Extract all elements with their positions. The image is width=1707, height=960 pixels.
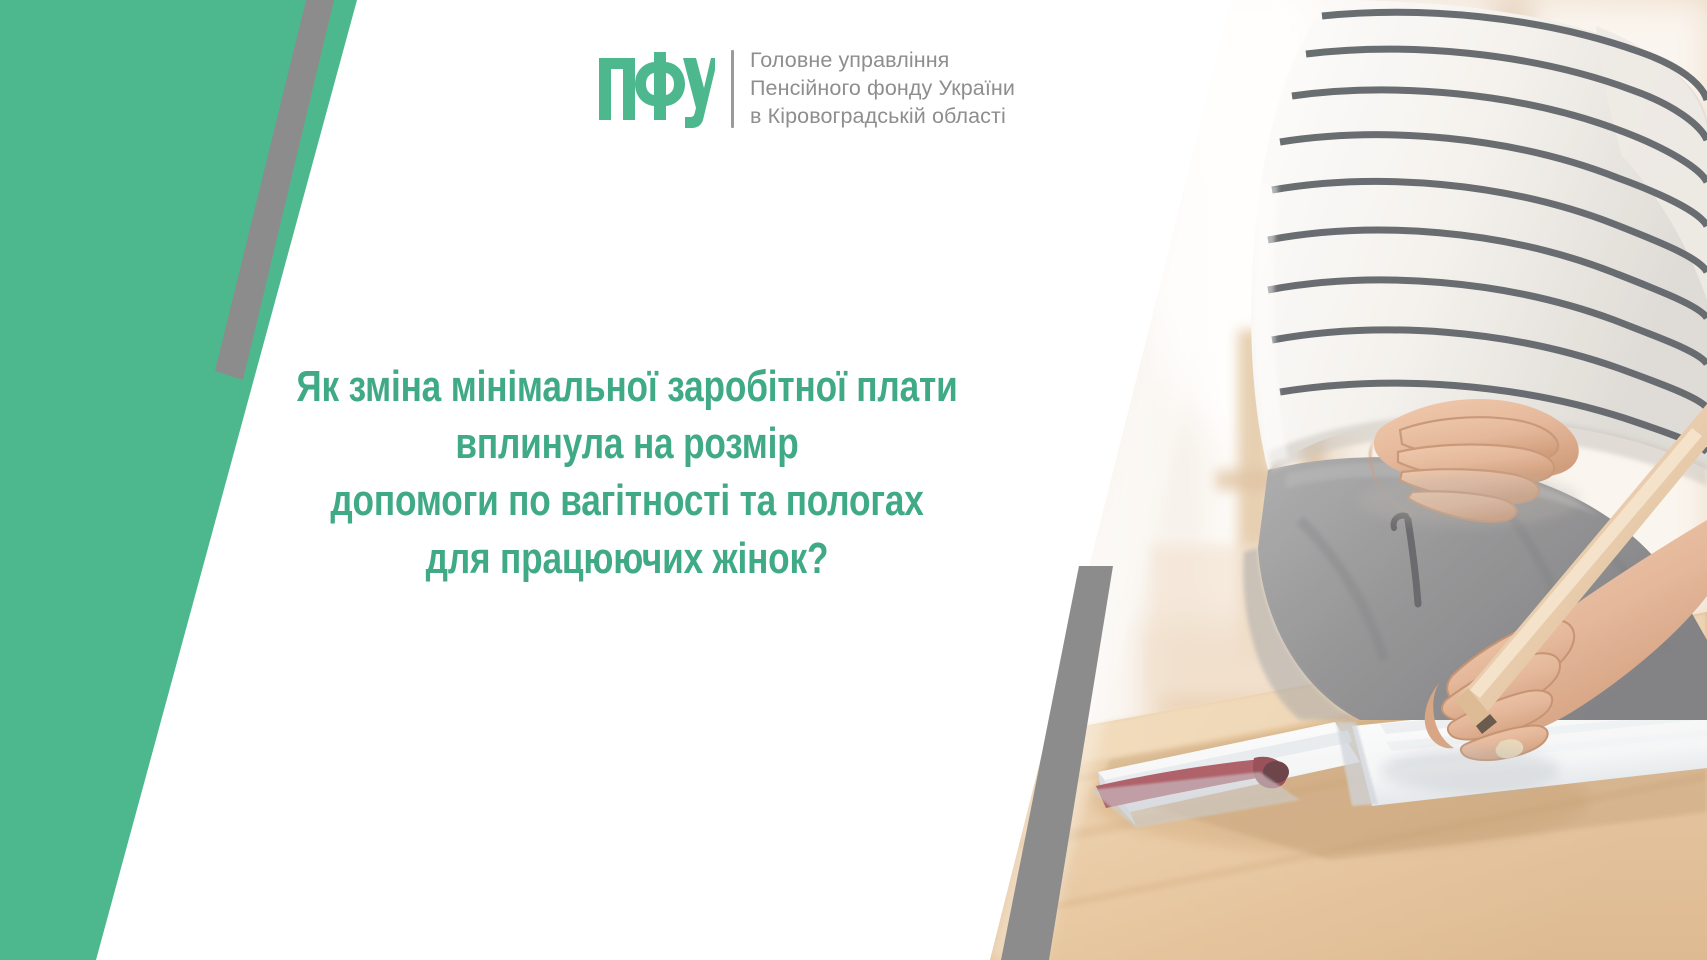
logo-text-block: Головне управління Пенсійного фонду Укра… bbox=[750, 47, 1015, 131]
logo-line-3: в Кіровоградській області bbox=[750, 103, 1015, 131]
right-gray-diagonal-stripe bbox=[1001, 566, 1113, 960]
banner-canvas: Головне управління Пенсійного фонду Укра… bbox=[0, 0, 1707, 960]
headline-line-1: Як зміна мінімальної заробітної плати bbox=[271, 358, 983, 415]
headline-line-2: вплинула на розмір bbox=[271, 415, 983, 472]
logo-line-2: Пенсійного фонду України bbox=[750, 75, 1015, 103]
headline-line-3: допомоги по вагітності та пологах bbox=[271, 472, 983, 529]
logo-divider bbox=[731, 50, 734, 128]
logo-line-1: Головне управління bbox=[750, 47, 1015, 75]
pfu-logo[interactable]: Головне управління Пенсійного фонду Укра… bbox=[597, 47, 1015, 131]
main-headline: Як зміна мінімальної заробітної плати вп… bbox=[182, 358, 1072, 587]
headline-line-4: для працюючих жінок? bbox=[271, 530, 983, 587]
pfu-wordmark-icon bbox=[597, 50, 715, 128]
